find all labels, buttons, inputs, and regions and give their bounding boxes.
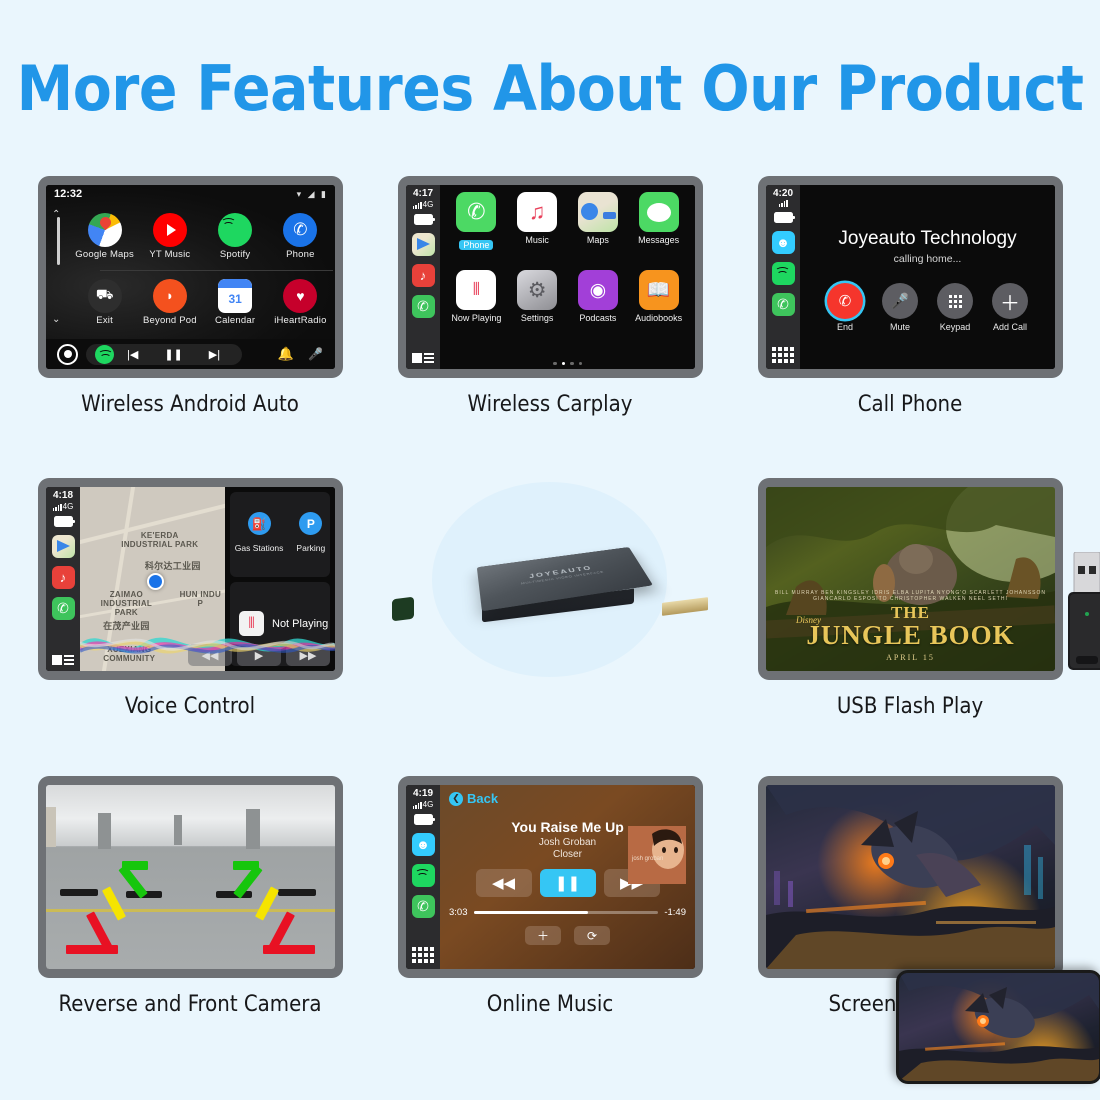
carplay-sidebar: 4:18 4G ♪ ✆ bbox=[46, 487, 80, 671]
secondary-controls: ＋ ⟳ bbox=[449, 926, 686, 945]
app-label: iHeartRadio bbox=[268, 315, 333, 326]
scrollbar[interactable] bbox=[57, 217, 60, 265]
apple-maps-icon bbox=[578, 192, 618, 232]
app-label: Music bbox=[507, 235, 568, 245]
app-label: Spotify bbox=[203, 249, 268, 260]
app-label: Phone bbox=[459, 240, 493, 250]
app-grid-icon[interactable] bbox=[412, 947, 434, 963]
guide-line-yellow-right bbox=[255, 886, 279, 920]
battery-icon bbox=[414, 814, 433, 825]
app-messages[interactable]: Messages bbox=[628, 192, 689, 270]
map-label: ZAIMAO INDUSTRIAL PARK bbox=[89, 590, 164, 618]
device-bezel: 4:20 ☻ ✆ Joyeauto Technology bbox=[758, 176, 1063, 378]
feature-card-screen-mirroring: Screen Mirroring bbox=[730, 770, 1090, 1070]
rear-camera-view bbox=[46, 785, 335, 969]
app-grid: Google Maps YT Music Spotify bbox=[72, 204, 333, 335]
card-caption: Call Phone bbox=[730, 392, 1090, 417]
device-bezel: 4:19 4G ☻ ✆ bbox=[398, 776, 703, 978]
app-audiobooks[interactable]: 📖 Audiobooks bbox=[628, 270, 689, 348]
poi-label: Parking bbox=[296, 543, 325, 553]
parking-lot-background bbox=[46, 785, 335, 846]
poi-gas-stations[interactable]: ⛽ Gas Stations bbox=[235, 512, 284, 556]
siri-content: KE'ERDA INDUSTRIAL PARK 科尔达工业园 ZAIMAO IN… bbox=[80, 487, 335, 671]
game-artwork bbox=[766, 785, 1055, 969]
end-call-button[interactable]: ✆ End bbox=[827, 283, 863, 332]
app-label: Google Maps bbox=[72, 249, 137, 260]
progress-bar[interactable] bbox=[474, 911, 659, 914]
button-label: End bbox=[827, 322, 863, 332]
divider bbox=[100, 270, 333, 271]
back-label: Back bbox=[467, 791, 498, 806]
spotify-icon[interactable] bbox=[412, 864, 435, 887]
audiobooks-icon: 📖 bbox=[639, 270, 679, 310]
list-view-icon[interactable] bbox=[52, 655, 74, 665]
app-label: Messages bbox=[628, 235, 689, 245]
carplay-app-grid: ✆ Phone ♫ Music bbox=[440, 185, 695, 369]
back-button[interactable]: ❮ Back bbox=[449, 791, 686, 806]
app-label: Exit bbox=[72, 315, 137, 326]
add-call-icon: ＋ bbox=[992, 283, 1028, 319]
app-row: Google Maps YT Music Spotify bbox=[72, 204, 333, 270]
battery-icon bbox=[774, 212, 793, 223]
signal-bars-icon bbox=[53, 504, 62, 511]
card-caption: Voice Control bbox=[10, 694, 370, 719]
netease-music-icon[interactable]: ♪ bbox=[52, 566, 75, 589]
home-button[interactable] bbox=[57, 344, 78, 365]
add-button[interactable]: ＋ bbox=[525, 926, 561, 945]
keypad-icon bbox=[937, 283, 973, 319]
jungle-book-poster: BILL MURRAY BEN KINGSLEY IDRIS ELBA LUPI… bbox=[766, 487, 1055, 671]
device-bezel bbox=[38, 776, 343, 978]
app-calendar[interactable]: 31 Calendar bbox=[203, 279, 268, 326]
feature-card-voice-control: 4:18 4G ♪ ✆ bbox=[10, 472, 370, 772]
app-grid-icon[interactable] bbox=[772, 347, 794, 363]
poi-card: ⛽ Gas Stations P Parking bbox=[230, 492, 330, 577]
add-call-button[interactable]: ＋ Add Call bbox=[992, 283, 1028, 332]
screen-now-playing: 4:19 4G ☻ ✆ bbox=[406, 785, 695, 969]
app-label: Beyond Pod bbox=[137, 315, 202, 326]
messages-icon bbox=[639, 192, 679, 232]
app-phone[interactable]: ✆ Phone bbox=[446, 192, 507, 270]
device-bezel: 12:32 ▾ ◢ ▮ ⌃ ⌄ Google Maps bbox=[38, 176, 343, 378]
title-line-2: JUNGLE BOOK bbox=[766, 623, 1055, 649]
status-time: 4:17 bbox=[413, 188, 433, 199]
iheartradio-icon: ♥ bbox=[283, 279, 317, 313]
app-label: Phone bbox=[268, 249, 333, 260]
app-google-maps[interactable]: Google Maps bbox=[72, 213, 137, 260]
app-label: YT Music bbox=[137, 249, 202, 260]
smartphone-mirror bbox=[896, 970, 1100, 1084]
carplay-call-screen: 4:20 ☻ ✆ Joyeauto Technology bbox=[766, 185, 1055, 369]
map-label: HUN INDU P bbox=[176, 590, 225, 608]
app-music[interactable]: ♫ Music bbox=[507, 192, 568, 270]
status-time: 12:32 bbox=[54, 188, 82, 200]
app-settings[interactable]: ⚙ Settings bbox=[507, 270, 568, 348]
power-connector bbox=[392, 597, 414, 622]
apple-music-icon: ♫ bbox=[517, 192, 557, 232]
phone-icon[interactable]: ✆ bbox=[412, 895, 435, 918]
album-art-image: josh groban bbox=[628, 826, 686, 884]
maps-icon[interactable] bbox=[52, 535, 75, 558]
chevron-left-icon: ❮ bbox=[449, 792, 463, 806]
app-label: Calendar bbox=[203, 315, 268, 326]
app-iheartradio[interactable]: ♥ iHeartRadio bbox=[268, 279, 333, 326]
card-caption: Wireless Android Auto bbox=[10, 392, 370, 417]
chevron-down-icon[interactable]: ⌄ bbox=[52, 314, 60, 325]
status-icons: ▾ ◢ ▮ bbox=[297, 189, 328, 200]
data-connector bbox=[662, 597, 708, 616]
end-call-icon: ✆ bbox=[827, 283, 863, 319]
app-phone[interactable]: ✆ Phone bbox=[268, 213, 333, 260]
mute-button[interactable]: 🎤 Mute bbox=[882, 283, 918, 332]
button-label: Add Call bbox=[992, 322, 1028, 332]
waze-icon[interactable]: ☻ bbox=[772, 231, 795, 254]
calendar-icon: 31 bbox=[218, 279, 252, 313]
progress-bar-row: 3:03 -1:49 bbox=[449, 907, 686, 918]
spotify-button[interactable] bbox=[95, 345, 114, 364]
status-time: 4:19 bbox=[413, 788, 433, 799]
poi-label: Gas Stations bbox=[235, 543, 284, 553]
carplay-siri-screen: 4:18 4G ♪ ✆ bbox=[46, 487, 335, 671]
app-label: Now Playing bbox=[446, 313, 507, 323]
carplay-sidebar: 4:19 4G ☻ ✆ bbox=[406, 785, 440, 969]
guide-tip-red-right bbox=[263, 945, 315, 954]
map-label: KE'ERDA INDUSTRIAL PARK bbox=[118, 531, 202, 549]
signal-bars-icon bbox=[413, 202, 422, 209]
usb-flash-drive bbox=[1066, 552, 1100, 672]
settings-gear-icon: ⚙ bbox=[517, 270, 557, 310]
repeat-button[interactable]: ⟳ bbox=[574, 926, 610, 945]
signal-bars-icon bbox=[413, 802, 422, 809]
carplay-sidebar: 4:17 4G ♪ ✆ bbox=[406, 185, 440, 369]
app-label: Podcasts bbox=[568, 313, 629, 323]
guide-line-yellow-left bbox=[102, 886, 126, 920]
battery-icon bbox=[54, 516, 73, 527]
feature-card-reverse-front-camera: Reverse and Front Camera bbox=[10, 770, 370, 1070]
phone-icon[interactable]: ✆ bbox=[772, 293, 795, 316]
screen-camera bbox=[46, 785, 335, 969]
now-playing-content: ❮ Back josh groban bbox=[440, 785, 695, 969]
device-bezel bbox=[758, 776, 1063, 978]
app-podcasts[interactable]: ◉ Podcasts bbox=[568, 270, 629, 348]
gas-station-icon: ⛽ bbox=[248, 512, 271, 535]
app-label: Settings bbox=[507, 313, 568, 323]
feature-card-wireless-carplay: 4:17 4G ♪ ✆ bbox=[370, 170, 730, 470]
app-maps[interactable]: Maps bbox=[568, 192, 629, 270]
screen-carplay: 4:17 4G ♪ ✆ bbox=[406, 185, 695, 369]
previous-button[interactable]: |◀ bbox=[127, 348, 138, 361]
keypad-button[interactable]: Keypad bbox=[937, 283, 973, 332]
call-content: Joyeauto Technology calling home... ✆ En… bbox=[800, 185, 1055, 369]
status-time: 4:18 bbox=[53, 490, 73, 501]
youtube-music-icon bbox=[153, 213, 187, 247]
app-exit[interactable]: ⛟ Exit bbox=[72, 279, 137, 326]
beyondpod-icon: ◗ bbox=[153, 279, 187, 313]
card-caption: Reverse and Front Camera bbox=[10, 992, 370, 1017]
feature-card-wireless-android-auto: 12:32 ▾ ◢ ▮ ⌃ ⌄ Google Maps bbox=[10, 170, 370, 470]
app-label: Maps bbox=[568, 235, 629, 245]
carplay-sidebar: 4:20 ☻ ✆ bbox=[766, 185, 800, 369]
app-beyond-pod[interactable]: ◗ Beyond Pod bbox=[137, 279, 202, 326]
release-date: APRIL 15 bbox=[766, 653, 1055, 662]
carplay-home: 4:17 4G ♪ ✆ bbox=[406, 185, 695, 369]
list-view-icon[interactable] bbox=[412, 353, 434, 363]
google-maps-icon bbox=[88, 213, 122, 247]
podcasts-icon: ◉ bbox=[578, 270, 618, 310]
app-spotify[interactable]: Spotify bbox=[203, 213, 268, 260]
signal-bars-icon bbox=[779, 200, 788, 207]
feature-grid: 12:32 ▾ ◢ ▮ ⌃ ⌄ Google Maps bbox=[0, 170, 1100, 1070]
siri-waveform bbox=[80, 623, 335, 665]
siri-waveform-icon bbox=[80, 623, 335, 665]
maps-icon[interactable] bbox=[412, 233, 435, 256]
feature-card-call-phone: 4:20 ☻ ✆ Joyeauto Technology bbox=[730, 170, 1090, 470]
app-yt-music[interactable]: YT Music bbox=[137, 213, 202, 260]
card-caption: Online Music bbox=[370, 992, 730, 1017]
current-location-dot bbox=[147, 573, 164, 590]
album-art: josh groban bbox=[628, 826, 686, 884]
device-bezel: 4:17 4G ♪ ✆ bbox=[398, 176, 703, 378]
screen-android-auto: 12:32 ▾ ◢ ▮ ⌃ ⌄ Google Maps bbox=[46, 185, 335, 369]
remaining-time: -1:49 bbox=[664, 907, 686, 918]
pause-button[interactable]: ❚❚ bbox=[540, 869, 596, 897]
guide-tip-green-left bbox=[122, 861, 148, 870]
spotify-icon[interactable] bbox=[772, 262, 795, 285]
netease-music-icon[interactable]: ♪ bbox=[412, 264, 435, 287]
movie-title: THE JUNGLE BOOK bbox=[766, 603, 1055, 649]
device-bezel: BILL MURRAY BEN KINGSLEY IDRIS ELBA LUPI… bbox=[758, 478, 1063, 680]
call-buttons: ✆ End 🎤 Mute Keypad bbox=[827, 283, 1028, 332]
pause-button[interactable]: ❚❚ bbox=[164, 348, 182, 361]
phone-icon[interactable]: ✆ bbox=[52, 597, 75, 620]
status-network: 4G bbox=[53, 502, 74, 511]
feature-card-online-music: 4:19 4G ☻ ✆ bbox=[370, 770, 730, 1070]
map-label-cn: 科尔达工业园 bbox=[135, 561, 210, 571]
phone-icon[interactable]: ✆ bbox=[412, 295, 435, 318]
card-caption: USB Flash Play bbox=[730, 694, 1090, 719]
next-button[interactable]: ▶| bbox=[209, 348, 220, 361]
phone-icon: ✆ bbox=[283, 213, 317, 247]
elapsed-time: 3:03 bbox=[449, 907, 468, 918]
app-now-playing[interactable]: ⦀ Now Playing bbox=[446, 270, 507, 348]
app-row: ⛟ Exit ◗ Beyond Pod 31 bbox=[72, 270, 333, 336]
guide-tip-green-right bbox=[233, 861, 259, 870]
microphone-icon[interactable]: 🎤 bbox=[308, 347, 323, 361]
rewind-button[interactable]: ◀◀ bbox=[476, 869, 532, 897]
now-playing-icon: ⦀ bbox=[456, 270, 496, 310]
android-auto-home: 12:32 ▾ ◢ ▮ ⌃ ⌄ Google Maps bbox=[46, 185, 335, 369]
phone-mirrored-image bbox=[899, 973, 1099, 1081]
phone-screen bbox=[899, 973, 1099, 1081]
app-label: Audiobooks bbox=[628, 313, 689, 323]
waze-icon[interactable]: ☻ bbox=[412, 833, 435, 856]
caller-name: Joyeauto Technology bbox=[838, 228, 1016, 250]
bar-right: 🔔 🎤 bbox=[278, 346, 335, 362]
screen-call: 4:20 ☻ ✆ Joyeauto Technology bbox=[766, 185, 1055, 369]
cast-list: BILL MURRAY BEN KINGSLEY IDRIS ELBA LUPI… bbox=[766, 590, 1055, 602]
status-time: 4:20 bbox=[773, 188, 793, 199]
exit-car-icon: ⛟ bbox=[88, 279, 122, 313]
game-artwork-image bbox=[766, 785, 1055, 969]
poi-parking[interactable]: P Parking bbox=[296, 512, 325, 556]
feature-card-product-box: JOYEAUTO MULTIMEDIA VIDEO INTERFACE bbox=[370, 472, 730, 772]
screen-movie-poster: BILL MURRAY BEN KINGSLEY IDRIS ELBA LUPI… bbox=[766, 487, 1055, 671]
media-controls: |◀ ❚❚ ▶| bbox=[86, 344, 242, 365]
page-title: More Features About Our Product bbox=[0, 52, 1100, 125]
status-network bbox=[779, 200, 788, 207]
phone-icon: ✆ bbox=[456, 192, 496, 232]
mute-microphone-icon: 🎤 bbox=[882, 283, 918, 319]
bottom-control-bar: |◀ ❚❚ ▶| 🔔 🎤 bbox=[46, 339, 335, 369]
button-label: Keypad bbox=[937, 322, 973, 332]
status-network: 4G bbox=[413, 800, 434, 809]
guide-tip-red-left bbox=[66, 945, 118, 954]
parking-icon: P bbox=[299, 512, 322, 535]
svg-text:josh groban: josh groban bbox=[631, 856, 663, 862]
notifications-bell-icon[interactable]: 🔔 bbox=[278, 346, 294, 362]
call-status: calling home... bbox=[894, 253, 962, 265]
status-network: 4G bbox=[413, 200, 434, 209]
usb-flash-drive-icon bbox=[1066, 552, 1100, 672]
battery-icon bbox=[414, 214, 433, 225]
carplay-now-playing: 4:19 4G ☻ ✆ bbox=[406, 785, 695, 969]
card-caption: Wireless Carplay bbox=[370, 392, 730, 417]
feature-card-usb-flash-play: BILL MURRAY BEN KINGSLEY IDRIS ELBA LUPI… bbox=[730, 472, 1090, 772]
screen-mirroring bbox=[766, 785, 1055, 969]
spotify-icon bbox=[218, 213, 252, 247]
button-label: Mute bbox=[882, 322, 918, 332]
screen-voice-control: 4:18 4G ♪ ✆ bbox=[46, 487, 335, 671]
page-dots[interactable] bbox=[440, 362, 695, 366]
device-bezel: 4:18 4G ♪ ✆ bbox=[38, 478, 343, 680]
